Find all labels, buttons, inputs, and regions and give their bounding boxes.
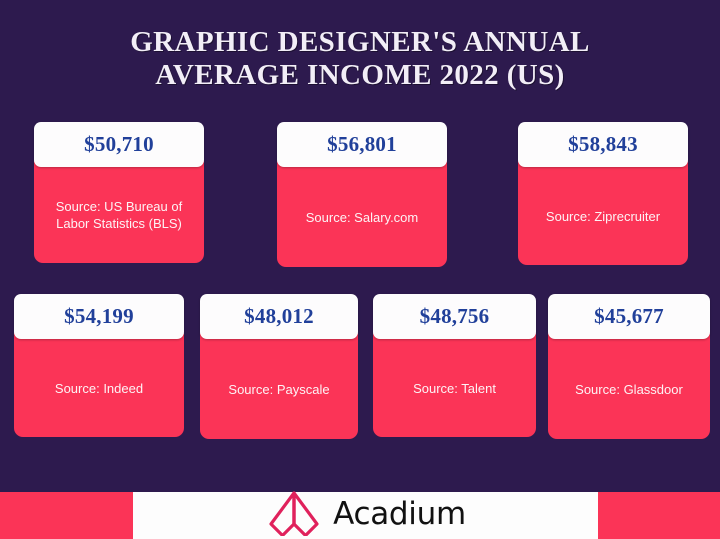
stat-card-body: Source: US Bureau of Labor Statistics (B…	[34, 161, 204, 263]
stat-card-indeed: $54,199 Source: Indeed	[14, 294, 184, 437]
stat-source-label: Source: US Bureau of Labor Statistics (B…	[34, 198, 204, 232]
stat-card-body: Source: Salary.com	[277, 161, 447, 267]
stat-card-ziprecruiter: $58,843 Source: Ziprecruiter	[518, 122, 688, 265]
stat-card-header: $56,801	[277, 122, 447, 167]
stat-card-bls: $50,710 Source: US Bureau of Labor Stati…	[34, 122, 204, 263]
acadium-diamond-logo-icon	[265, 490, 323, 539]
page-title: GRAPHIC DESIGNER'S ANNUAL AVERAGE INCOME…	[0, 26, 720, 92]
stat-card-header: $54,199	[14, 294, 184, 339]
stat-source-label: Source: Glassdoor	[567, 381, 691, 398]
footer-brand-bar: Acadium	[0, 492, 720, 539]
stat-card-body: Source: Indeed	[14, 333, 184, 437]
stat-card-header: $50,710	[34, 122, 204, 167]
stat-card-glassdoor: $45,677 Source: Glassdoor	[548, 294, 710, 439]
title-line-1: GRAPHIC DESIGNER'S ANNUAL	[0, 26, 720, 59]
stat-card-body: Source: Ziprecruiter	[518, 161, 688, 265]
stat-amount: $45,677	[594, 304, 664, 329]
stat-amount: $54,199	[64, 304, 134, 329]
footer-logo-area: Acadium	[133, 492, 598, 539]
title-line-2: AVERAGE INCOME 2022 (US)	[0, 59, 720, 92]
stat-card-salary-com: $56,801 Source: Salary.com	[277, 122, 447, 267]
stat-source-label: Source: Indeed	[47, 380, 151, 397]
footer-accent-block-left	[0, 492, 133, 539]
infographic-canvas: GRAPHIC DESIGNER'S ANNUAL AVERAGE INCOME…	[0, 0, 720, 539]
stat-amount: $48,012	[244, 304, 314, 329]
stat-card-header: $48,012	[200, 294, 358, 339]
footer-accent-block-right	[598, 492, 720, 539]
stat-card-header: $45,677	[548, 294, 710, 339]
stat-card-header: $48,756	[373, 294, 536, 339]
stat-card-talent: $48,756 Source: Talent	[373, 294, 536, 437]
stat-source-label: Source: Payscale	[220, 381, 337, 398]
stat-card-body: Source: Payscale	[200, 333, 358, 439]
stat-source-label: Source: Salary.com	[298, 209, 426, 226]
stat-card-body: Source: Talent	[373, 333, 536, 437]
stat-amount: $58,843	[568, 132, 638, 157]
stat-card-row-2: $54,199 Source: Indeed $48,012 Source: P…	[0, 294, 720, 446]
brand-name: Acadium	[333, 499, 466, 532]
stat-card-body: Source: Glassdoor	[548, 333, 710, 439]
stat-amount: $50,710	[84, 132, 154, 157]
stat-card-row-1: $50,710 Source: US Bureau of Labor Stati…	[0, 122, 720, 274]
stat-source-label: Source: Talent	[405, 380, 504, 397]
stat-card-header: $58,843	[518, 122, 688, 167]
stat-amount: $56,801	[327, 132, 397, 157]
stat-card-payscale: $48,012 Source: Payscale	[200, 294, 358, 439]
stat-source-label: Source: Ziprecruiter	[538, 208, 668, 225]
stat-amount: $48,756	[420, 304, 490, 329]
